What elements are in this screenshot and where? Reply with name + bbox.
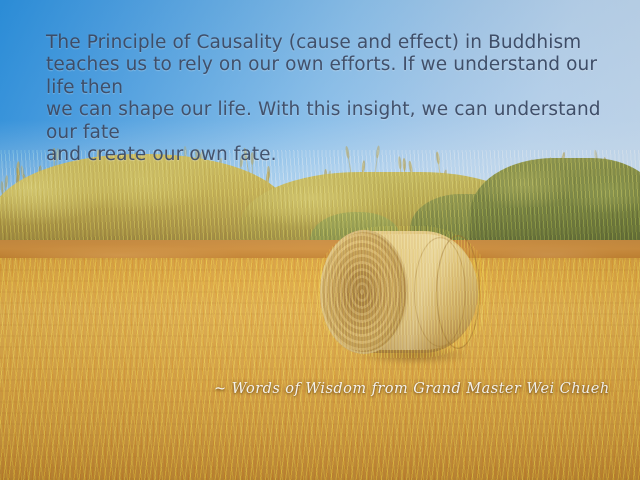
quote-text: The Principle of Causality (cause and ef… (46, 32, 612, 166)
hay-bale-texture (318, 226, 488, 358)
attribution-text: ~ Words of Wisdom from Grand Master Wei … (214, 381, 614, 397)
quote-image: The Principle of Causality (cause and ef… (0, 0, 640, 480)
hay-bale (318, 226, 488, 358)
